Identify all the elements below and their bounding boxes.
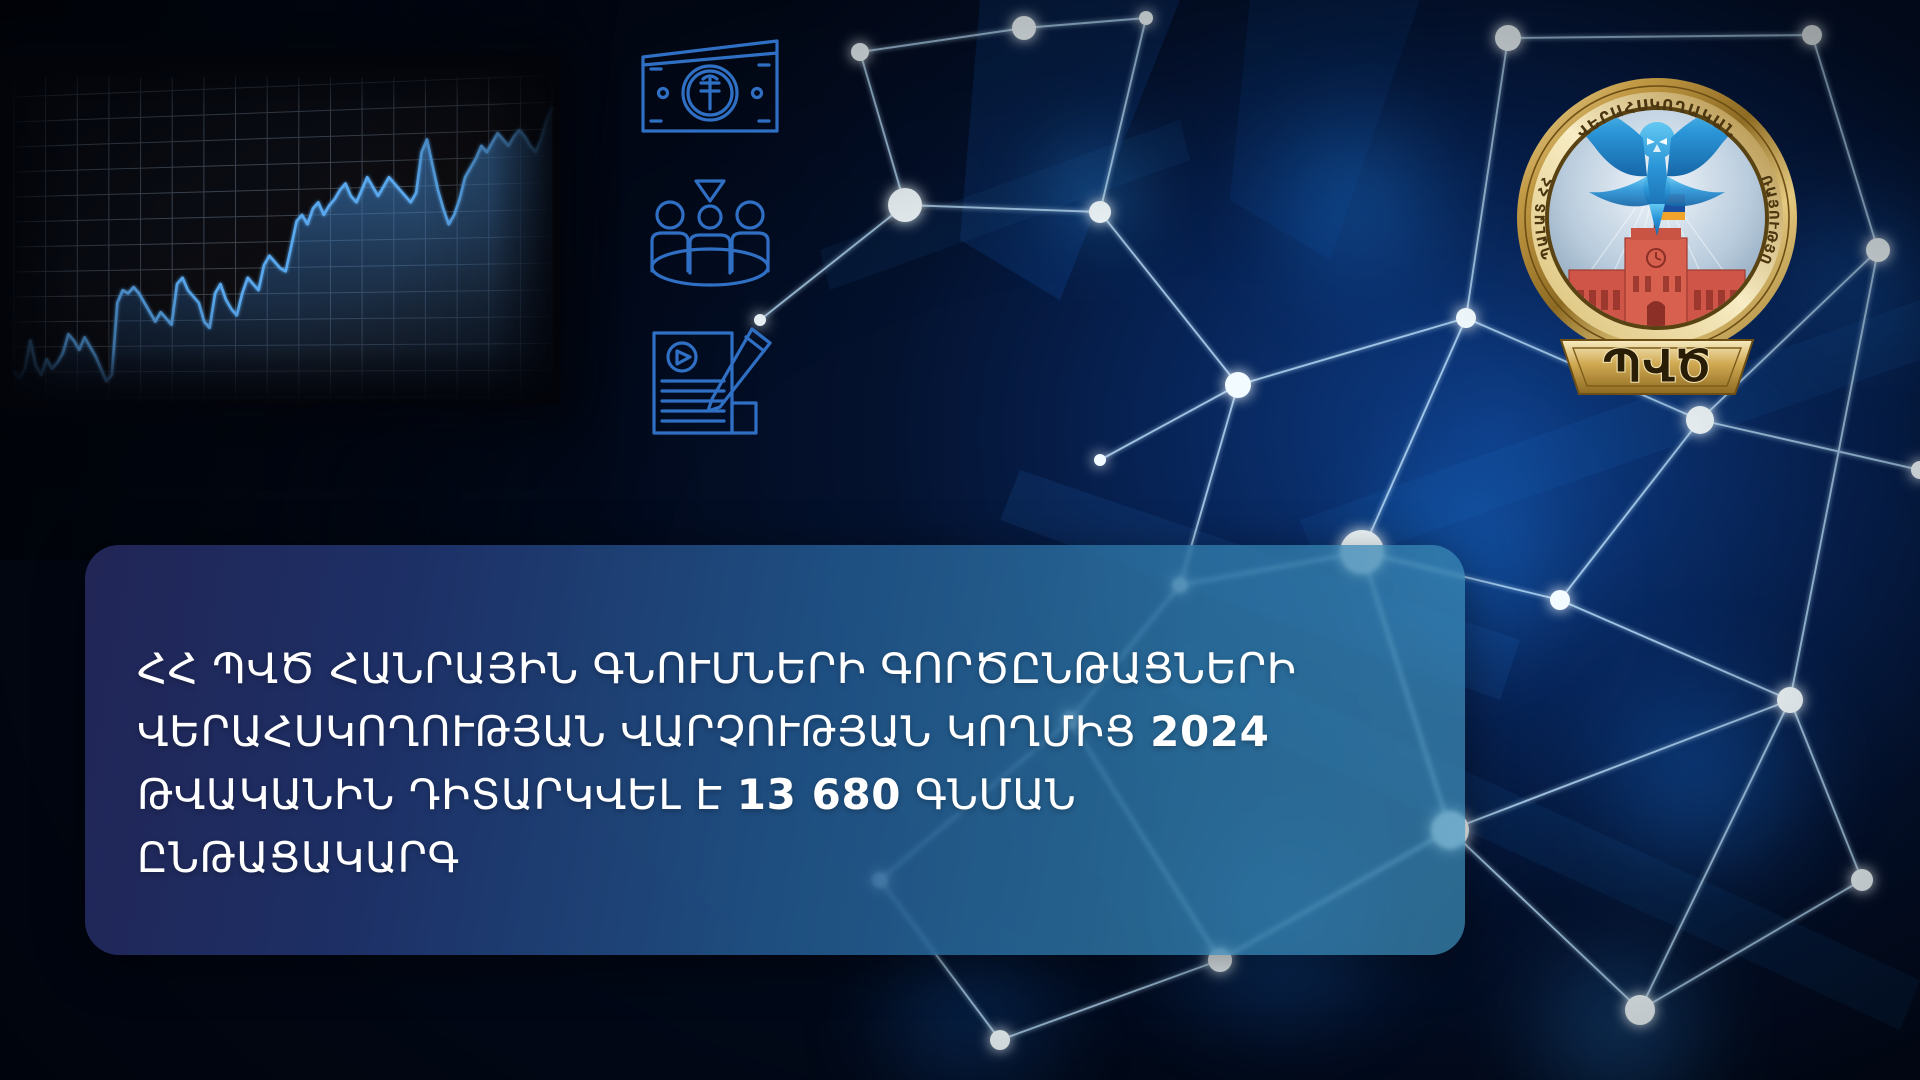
icon-column	[630, 35, 790, 441]
headline-emphasis: 2024	[1150, 707, 1269, 756]
banknote-dram-icon	[635, 35, 785, 145]
chart-area-fill	[14, 108, 552, 405]
headline-emphasis: 13 680	[737, 770, 901, 819]
pvc-emblem: ՎԵՐԱՀՍԿՈՂԱԿԱՆ ՊԱԼԱՏ ՀՀ ԾԱՌԱՅՈՒԹՅՈՒՆ ՊՎԾ	[1497, 58, 1817, 403]
emblem-banner-text: ՊՎԾ	[1602, 339, 1711, 393]
emblem-banner: ՊՎԾ	[1561, 339, 1753, 394]
headline-text: ՀՀ ՊՎԾ ՀԱՆՐԱՅԻՆ ԳՆՈՒՄՆԵՐԻ ԳՈՐԾԸՆԹԱՑՆԵՐԻ …	[137, 637, 1413, 889]
people-group-icon	[640, 175, 780, 293]
headline-segment: ԹՎԱԿԱՆԻՆ ԴԻՏԱՐԿՎԵԼ Է	[137, 770, 737, 819]
stock-chart-graphic	[0, 55, 560, 405]
headline-segment: ՀՀ ՊՎԾ ՀԱՆՐԱՅԻՆ ԳՆՈՒՄՆԵՐԻ ԳՈՐԾԸՆԹԱՑՆԵՐԻ …	[137, 644, 1296, 756]
headline-card: ՀՀ ՊՎԾ ՀԱՆՐԱՅԻՆ ԳՆՈՒՄՆԵՐԻ ԳՈՐԾԸՆԹԱՑՆԵՐԻ …	[85, 545, 1465, 955]
document-pencil-icon	[640, 323, 780, 441]
